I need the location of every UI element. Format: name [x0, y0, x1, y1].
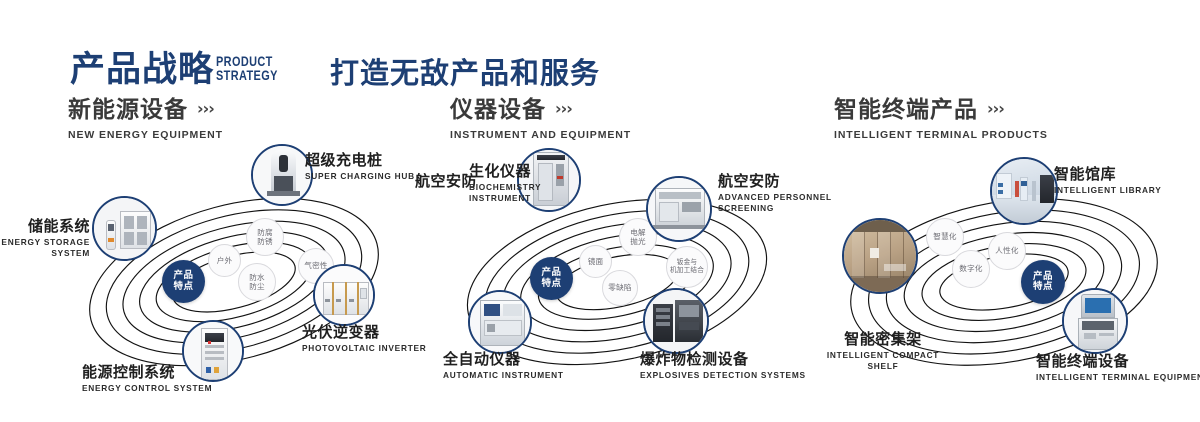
section-header-instrument: 仪器设备››› INSTRUMENT AND EQUIPMENT	[450, 96, 631, 141]
node-label-photovoltaic-inverter: 光伏逆变器 PHOTOVOLTAIC INVERTER	[302, 323, 427, 354]
node-label-advanced-personnel-screening: 航空安防 ADVANCED PERSONNELSCREENING	[718, 172, 832, 214]
page-title-english: PRODUCT STRATEGY	[216, 54, 278, 82]
node-photo-super-charging-hub[interactable]	[251, 144, 313, 206]
node-photo-explosives-detection-systems[interactable]	[643, 288, 709, 354]
cluster-new-energy: 产品 特点 户外 防腐 防锈 气密性 防水 防尘	[52, 160, 412, 400]
product-strategy-infographic: 产品战略 PRODUCT STRATEGY 打造无敌产品和服务 新能源设备›››…	[0, 0, 1200, 422]
feature-outdoor: 户外	[208, 244, 241, 277]
title-en-line2: STRATEGY	[216, 68, 278, 82]
section-title-en: INSTRUMENT AND EQUIPMENT	[450, 129, 631, 141]
section-header-intelligent: 智能终端产品››› INTELLIGENT TERMINAL PRODUCTS	[834, 96, 1048, 141]
section-title-en: INTELLIGENT TERMINAL PRODUCTS	[834, 129, 1048, 141]
feature-mirror-finish: 镜面	[579, 245, 612, 278]
feature-zero-defect: 零缺陷	[602, 270, 638, 306]
node-photo-photovoltaic-inverter[interactable]	[313, 264, 375, 326]
node-label-aviation-security-left: 航空安防	[392, 172, 477, 190]
node-label-intelligent-compact-shelf: 智能密集架 INTELLIGENT COMPACTSHELF	[826, 330, 940, 372]
core-line1: 产品	[173, 271, 193, 281]
node-label-intelligent-terminal-equipment: 智能终端设备 INTELLIGENT TERMINAL EQUIPMENT	[1036, 352, 1200, 383]
page-title: 产品战略	[70, 50, 214, 90]
section-title-cn: 仪器设备›››	[450, 96, 631, 123]
node-photo-advanced-personnel-screening[interactable]	[646, 176, 712, 242]
section-header-new-energy: 新能源设备››› NEW ENERGY EQUIPMENT	[68, 96, 223, 141]
header: 产品战略 PRODUCT STRATEGY 打造无敌产品和服务	[0, 24, 1200, 80]
cluster-instrument: 产品 特点 镜面 电解 抛光 钣金与 机加工结合 零缺陷	[432, 160, 812, 400]
node-photo-intelligent-terminal-equipment[interactable]	[1062, 288, 1128, 354]
cluster-intelligent-terminal: 产品 特点 智慧化 人性化 数字化	[818, 160, 1200, 400]
feature-waterproof-dustproof: 防水 防尘	[238, 263, 276, 301]
node-label-en: INTELLIGENT COMPACTSHELF	[826, 350, 940, 372]
feature-sheetmetal-machining: 钣金与 机加工结合	[666, 246, 708, 288]
chevron-right-icon: ›››	[987, 96, 1004, 122]
node-photo-automatic-instrument[interactable]	[468, 290, 532, 354]
core-badge-product-features: 产品 特点	[1021, 260, 1065, 304]
core-line2: 特点	[173, 282, 193, 292]
node-photo-intelligent-library[interactable]	[990, 157, 1058, 225]
node-label-en: ENERGY STORAGESYSTEM	[0, 237, 90, 259]
node-label-en: BIOCHEMISTRYINSTRUMENT	[469, 182, 541, 204]
node-label-explosives-detection-systems: 爆炸物检测设备 EXPLOSIVES DETECTION SYSTEMS	[640, 350, 806, 381]
node-label-biochemistry-instrument: 生化仪器 BIOCHEMISTRYINSTRUMENT	[469, 162, 541, 204]
section-title-cn: 智能终端产品›››	[834, 96, 1048, 123]
section-title-cn: 新能源设备›››	[68, 96, 223, 123]
chevron-right-icon: ›››	[197, 96, 214, 122]
title-en-line1: PRODUCT	[216, 54, 278, 68]
node-label-automatic-instrument: 全自动仪器 AUTOMATIC INSTRUMENT	[443, 350, 564, 381]
section-title-en: NEW ENERGY EQUIPMENT	[68, 129, 223, 141]
core-badge-product-features: 产品 特点	[530, 257, 573, 300]
feature-humanized: 人性化	[988, 232, 1026, 270]
node-photo-energy-storage-system[interactable]	[92, 196, 157, 261]
feature-intelligent: 智慧化	[926, 218, 964, 256]
feature-anticorrosion: 防腐 防锈	[246, 218, 284, 256]
core-badge-product-features: 产品 特点	[162, 260, 205, 303]
page-subtitle: 打造无敌产品和服务	[330, 56, 600, 90]
node-label-intelligent-library: 智能馆库 INTELLIGENT LIBRARY	[1054, 165, 1162, 196]
node-label-en: ADVANCED PERSONNELSCREENING	[718, 192, 832, 214]
node-photo-intelligent-compact-shelf[interactable]	[842, 218, 918, 294]
node-label-energy-control-system: 能源控制系统 ENERGY CONTROL SYSTEM	[82, 363, 212, 394]
chevron-right-icon: ›››	[555, 96, 572, 122]
feature-digitalized: 数字化	[952, 250, 990, 288]
node-label-energy-storage-system: 储能系统 ENERGY STORAGESYSTEM	[0, 217, 90, 259]
